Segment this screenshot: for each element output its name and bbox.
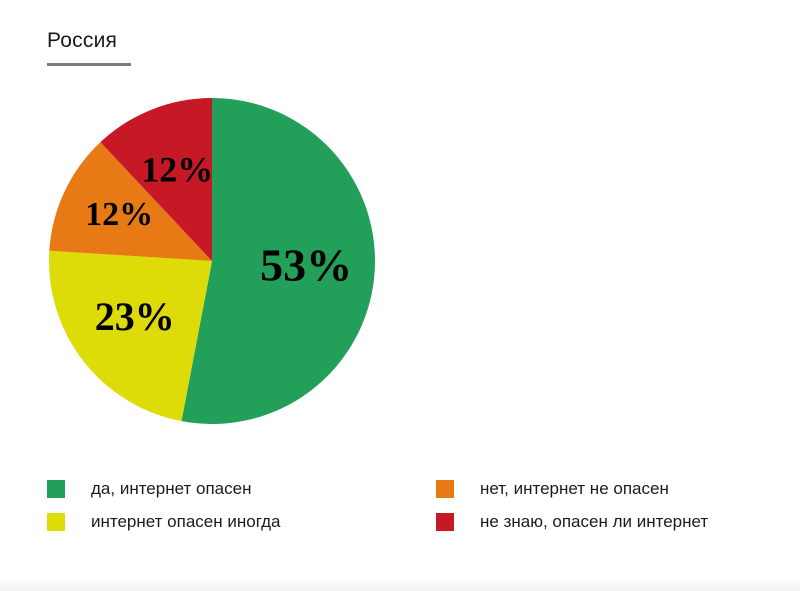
pie-slice-value-label: 12% [141, 149, 213, 189]
pie-chart-russia: 53%23%12%12% [47, 96, 377, 426]
chart-panel-russia: Россия 53%23%12%12% [0, 0, 400, 455]
legend-swatch-yellow [47, 513, 65, 531]
pie-slice-value-label: 23% [95, 294, 175, 339]
legend-swatch-red [436, 513, 454, 531]
pie-svg-russia: 53%23%12%12% [47, 96, 377, 426]
page-title-russia: Россия [47, 29, 117, 59]
legend-column-left: да, интернет опасен интернет опасен иног… [0, 478, 400, 544]
pie-slice-value-label: 12% [85, 196, 153, 233]
title-underline-russia [47, 63, 131, 66]
legend-item-da-internet-opasen[interactable]: да, интернет опасен [0, 478, 400, 500]
legend-item-internet-opasen-inogda[interactable]: интернет опасен иногда [0, 511, 400, 533]
legend-label-net-internet-ne-opasen: нет, интернет не опасен [480, 478, 669, 500]
infographic-page: Россия 53%23%12%12% Москва 18%42%28%12% … [0, 0, 800, 591]
chart-panel-moscow: Москва 18%42%28%12% [400, 0, 800, 455]
legend-label-internet-opasen-inogda: интернет опасен иногда [91, 511, 281, 533]
legend-column-right: нет, интернет не опасен не знаю, опасен … [400, 478, 800, 544]
legend-item-net-internet-ne-opasen[interactable]: нет, интернет не опасен [400, 478, 800, 500]
legend-label-da-internet-opasen: да, интернет опасен [91, 478, 251, 500]
page-bottom-band [0, 579, 800, 591]
pie-slice-value-label: 53% [260, 239, 352, 290]
legend-item-ne-znayu[interactable]: не знаю, опасен ли интернет [400, 511, 800, 533]
legend-swatch-green [47, 480, 65, 498]
legend-swatch-orange [436, 480, 454, 498]
legend-label-ne-znayu: не знаю, опасен ли интернет [480, 511, 708, 533]
